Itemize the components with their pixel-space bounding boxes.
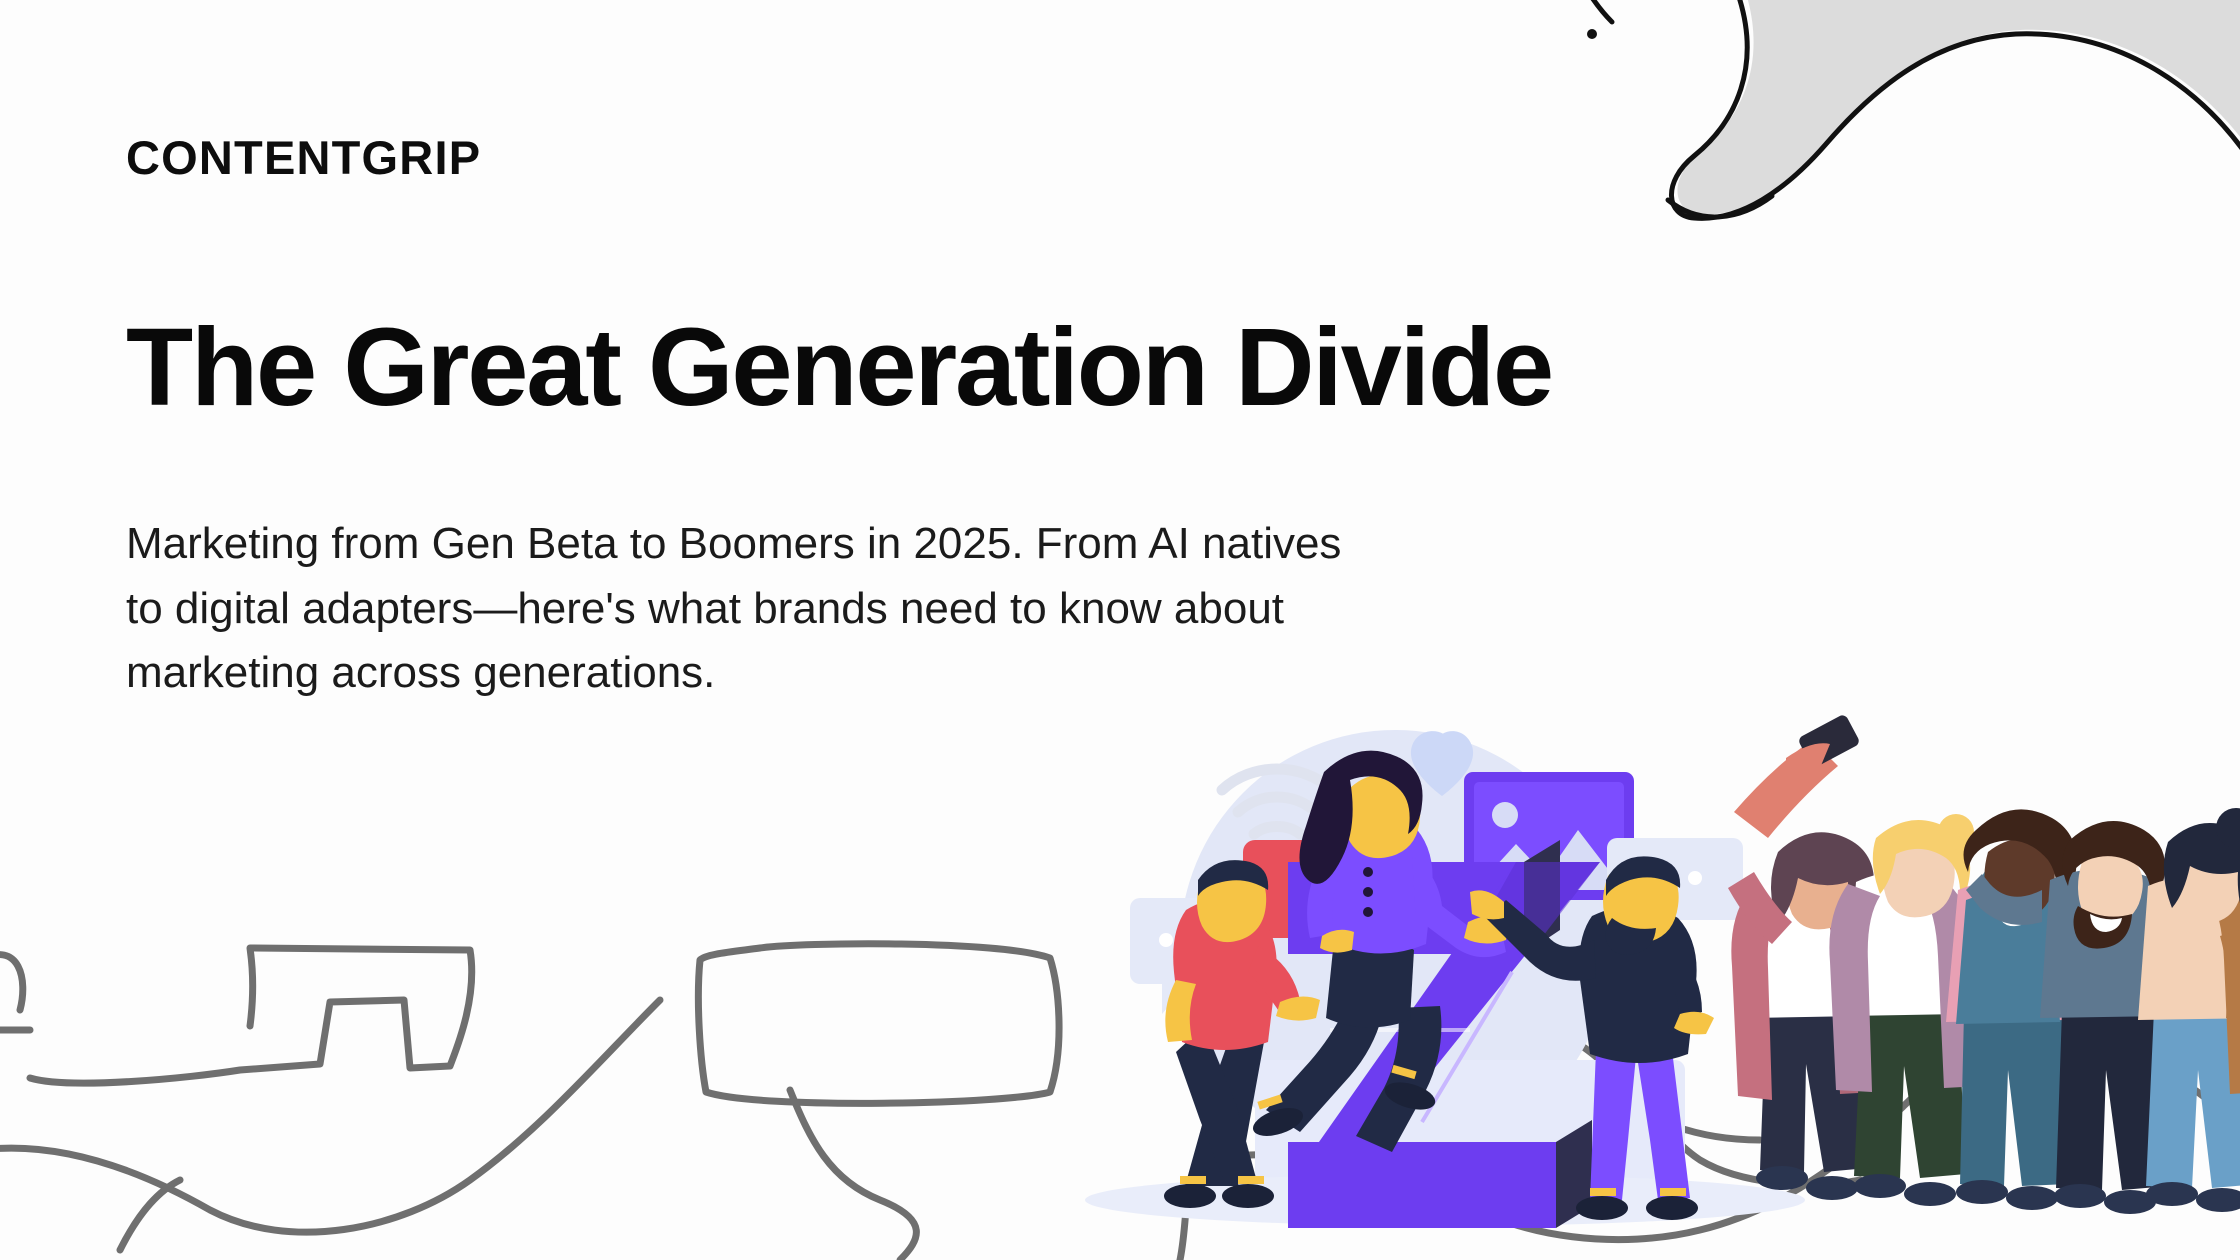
page-title: The Great Generation Divide	[126, 310, 1552, 426]
content-layer: CONTENTGRIP The Great Generation Divide …	[0, 0, 2240, 1260]
subheading-line-2: to digital adapters—here's what brands n…	[126, 577, 1716, 642]
poster-canvas: CONTENTGRIP The Great Generation Divide …	[0, 0, 2240, 1260]
subheading-paragraph: Marketing from Gen Beta to Boomers in 20…	[126, 512, 1716, 706]
subheading-line-1: Marketing from Gen Beta to Boomers in 20…	[126, 512, 1716, 577]
brand-logo-text: CONTENTGRIP	[126, 134, 481, 181]
subheading-line-3: marketing across generations.	[126, 641, 1716, 706]
